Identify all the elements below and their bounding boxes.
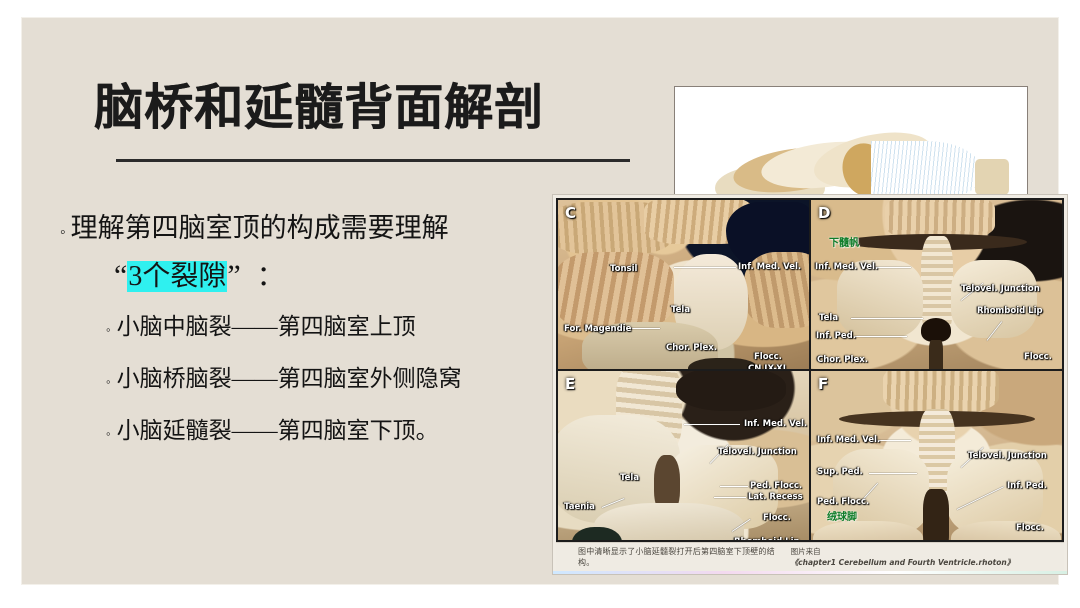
panel-c-label: CN IX-XI [748,364,786,369]
illustration-shape [975,159,1009,195]
anatomy-panel-f[interactable]: F Inf. Med. Vel. Telovel. Junction Sup. … [811,371,1062,540]
bullet-level1-text: 理解第四脑室顶的构成需要理解 [71,208,449,248]
panel-c-label: Inf. Med. Vel. [738,262,801,272]
panel-f-label: Inf. Ped. [1007,481,1047,491]
bullet-marker-icon: ◦ [106,323,111,336]
panel-e-label: Flocc. [763,513,791,523]
median-shadow [923,489,949,540]
bullet-marker-icon: ◦ [60,225,66,241]
leader-line [873,267,911,268]
page-title: 脑桥和延髓背面解剖 [94,80,654,136]
bullet-marker-icon: ◦ [106,427,111,440]
panel-d-label: Flocc. [1024,352,1052,362]
panel-c-label: Tela [671,305,690,315]
figure-source-label: 图片来自 [791,547,821,556]
title-block: 脑桥和延髓背面解剖 [94,80,654,136]
anatomy-panel-c[interactable]: C Tonsil Inf. Med. Vel. Tela For. Magend… [558,200,809,369]
anatomy-panel-e[interactable]: E Inf. Med. Vel. Telovel. Junction Tela … [558,371,809,540]
panel-e-label: Telovel. Junction [718,447,797,457]
leader-line [674,267,736,268]
bullet-level2-text: 小脑桥脑裂——第四脑室外侧隐窝 [117,361,462,397]
panel-f-label: Telovel. Junction [968,451,1047,461]
panel-d-label-cn: 下髓帆 [829,234,859,249]
panel-letter-d: D [818,204,830,222]
bullet-quote-row: “3个裂隙”： [114,256,560,297]
leader-line [714,497,746,498]
bullet-level2-text: 小脑中脑裂——第四脑室上顶 [117,309,416,345]
slide-canvas: 脑桥和延髓背面解剖 ◦ 理解第四脑室顶的构成需要理解 “3个裂隙”： ◦ 小脑中… [22,18,1058,584]
highlighted-phrase: 3个裂隙 [127,261,227,292]
panel-d-label: Chor. Plex. [817,355,868,365]
panel-e-label: Inf. Med. Vel. [744,419,807,429]
panel-c-label: Flocc. [754,352,782,362]
panel-d-label: Inf. Ped. [816,331,856,341]
leader-line [879,440,911,441]
anatomy-panel-grid: C Tonsil Inf. Med. Vel. Tela For. Magend… [556,198,1064,542]
leader-line [851,318,923,319]
panel-e-label: Tela [620,473,639,483]
bullet-marker-icon: ◦ [106,375,111,388]
bullet-level2-item: ◦ 小脑延髓裂——第四脑室下顶。 [106,413,560,449]
figure-caption-strip: 图中清晰显示了小脑延髓裂打开后第四脑室下顶壁的结构。 图片来自 《chapter… [556,542,1064,571]
panel-d-label: Inf. Med. Vel. [815,262,878,272]
panel-f-label: Ped. Flocc. [817,497,869,507]
figure-source: 图片来自 《chapter1 Cerebellum and Fourth Ven… [791,546,1046,568]
panel-letter-e: E [565,375,575,393]
bullet-list: ◦ 理解第四脑室顶的构成需要理解 “3个裂隙”： ◦ 小脑中脑裂——第四脑室上顶… [60,208,560,465]
leader-line [855,336,907,337]
top-illustration-panel [674,86,1028,196]
panel-f-label: Flocc. [1016,523,1044,533]
panel-c-label: For. Magendie [564,324,631,334]
tissue-fold [813,521,923,540]
leader-line [684,424,740,425]
panel-e-label: Rhomboid Lip [734,537,800,540]
figure-source-title: 《chapter1 Cerebellum and Fourth Ventricl… [791,558,1015,567]
panel-c-label: Tonsil [610,264,637,274]
panel-e-label: Ped. Flocc. [750,481,802,491]
panel-e-label: Lat. Recess [748,492,803,502]
panel-d-label: Tela [819,313,838,323]
bullet-level1: ◦ 理解第四脑室顶的构成需要理解 [60,208,560,248]
quote-colon: ： [257,261,285,292]
leader-line [720,486,748,487]
anatomy-panel-d[interactable]: D 下髓帆 Inf. Med. Vel. Telovel. Junction R… [811,200,1062,369]
anatomy-figure-block: C Tonsil Inf. Med. Vel. Tela For. Magend… [552,194,1068,575]
figure-caption-text: 图中清晰显示了小脑延髓裂打开后第四脑室下顶壁的结构。 [578,546,791,568]
panel-d-label: Telovel. Junction [961,284,1040,294]
tela-membrane [951,260,1037,338]
bullet-level2-item: ◦ 小脑中脑裂——第四脑室上顶 [106,309,560,345]
panel-c-label: Chor. Plex. [666,343,717,353]
title-underline [116,159,630,162]
tissue-fold [951,521,1061,540]
panel-d-label: Rhomboid Lip [977,306,1043,316]
panel-letter-c: C [565,204,576,222]
illustration-fibers [871,141,981,196]
vermis-fold [883,371,999,413]
fissure-shadow [676,371,786,411]
panel-f-label-cn: 绒球脚 [827,508,857,523]
quote-close-mark: ” [227,259,240,292]
median-shadow [929,340,943,369]
figure-bottom-edge [553,571,1067,574]
bullet-level2-item: ◦ 小脑桥脑裂——第四脑室外侧隐窝 [106,361,560,397]
bullet-level2-text: 小脑延髓裂——第四脑室下顶。 [117,413,439,449]
panel-e-label: Taenia [564,502,595,512]
panel-f-label: Inf. Med. Vel. [817,435,880,445]
foramen-shadow [921,318,951,342]
panel-f-label: Sup. Ped. [817,467,863,477]
quote-open-mark: “ [114,259,127,292]
panel-letter-f: F [818,375,828,393]
leader-line [869,473,917,474]
